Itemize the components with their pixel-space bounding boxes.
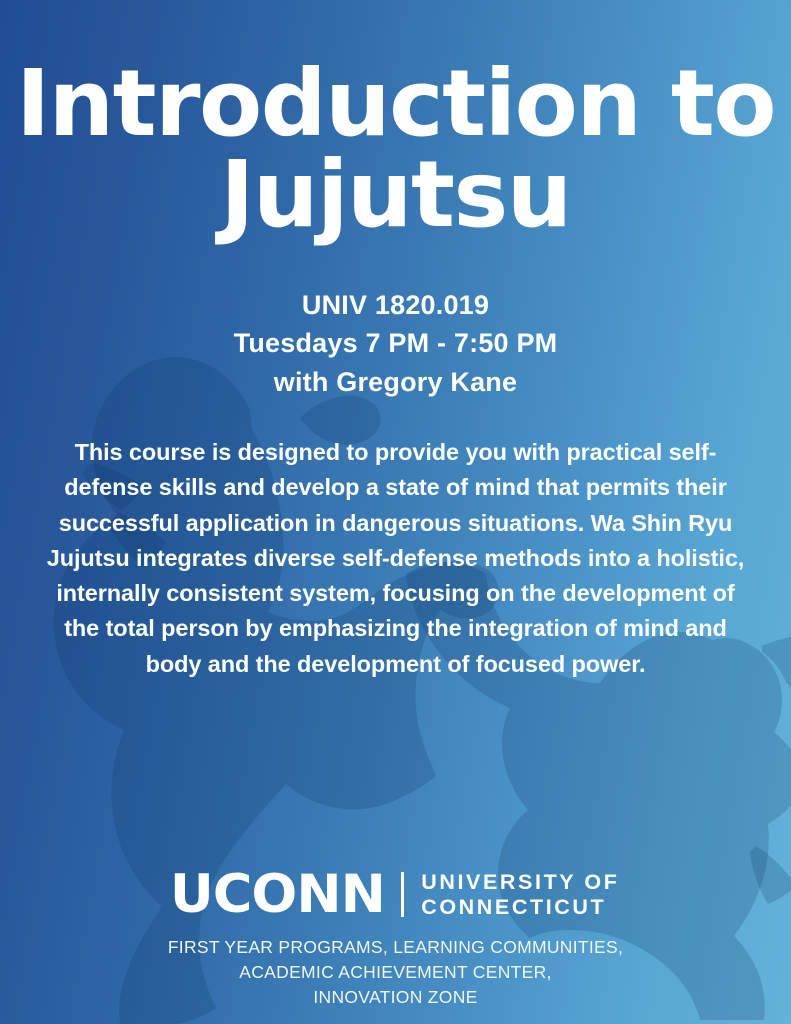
uconn-logo-mark: UCONN <box>169 868 384 921</box>
course-description: This course is designed to provide you w… <box>38 435 754 682</box>
logo-divider-rule <box>401 872 404 917</box>
wordmark-line-2: CONNECTICUT <box>421 895 619 920</box>
poster-footer: UCONN UNIVERSITY OF CONNECTICUT FIRST YE… <box>0 868 791 1010</box>
uconn-logo: UCONN UNIVERSITY OF CONNECTICUT <box>172 868 620 921</box>
title-line-2: Jujutsu <box>0 149 791 240</box>
course-code: UNIV 1820.019 <box>234 286 558 324</box>
course-details: UNIV 1820.019 Tuesdays 7 PM - 7:50 PM wi… <box>234 286 558 401</box>
department-line-3: INNOVATION ZONE <box>168 985 623 1010</box>
course-instructor: with Gregory Kane <box>234 363 558 401</box>
course-schedule: Tuesdays 7 PM - 7:50 PM <box>234 324 558 362</box>
department-line-2: ACADEMIC ACHIEVEMENT CENTER, <box>168 960 623 985</box>
course-poster: Introduction to Jujutsu UNIV 1820.019 Tu… <box>0 0 791 1024</box>
department-line-1: FIRST YEAR PROGRAMS, LEARNING COMMUNITIE… <box>168 935 623 960</box>
title-line-1: Introduction to <box>0 58 791 149</box>
sponsoring-departments: FIRST YEAR PROGRAMS, LEARNING COMMUNITIE… <box>168 935 623 1010</box>
wordmark-line-1: UNIVERSITY OF <box>421 870 619 895</box>
poster-title: Introduction to Jujutsu <box>0 58 791 240</box>
uconn-logo-wordmark: UNIVERSITY OF CONNECTICUT <box>421 870 619 920</box>
